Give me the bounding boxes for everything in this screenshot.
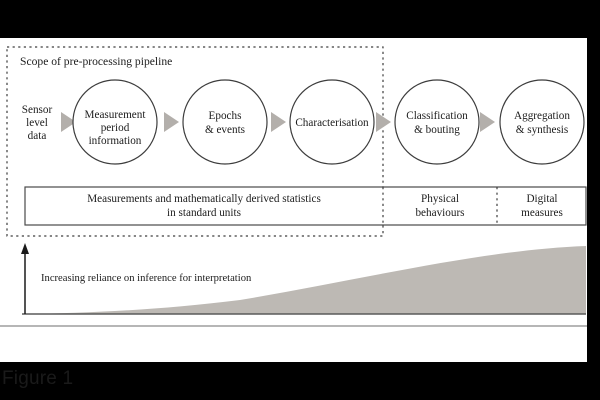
sensor-level-data-line-2: data — [28, 130, 47, 142]
band-label-line-1: measures — [521, 207, 563, 219]
stage-label-line-0: Classification — [406, 110, 468, 122]
stage-circle — [500, 80, 584, 164]
flow-arrow-icon-3 — [271, 112, 286, 132]
stage-label-line-1: & events — [205, 124, 245, 136]
figure-caption: Figure 1 — [2, 368, 73, 390]
scope-label: Scope of pre-processing pipeline — [20, 55, 172, 68]
stage-circle — [183, 80, 267, 164]
figure-page: Scope of pre-processing pipeline Sensor … — [0, 38, 587, 362]
stage-label-line-1: period — [101, 122, 130, 134]
inference-note: Increasing reliance on inference for int… — [41, 273, 252, 284]
band-label-line-0: Measurements and mathematically derived … — [87, 193, 321, 205]
band-label-line-1: in standard units — [167, 207, 241, 219]
stage-measurement-period-information[interactable]: Measurement period information — [73, 80, 157, 164]
stage-label-line-0: Epochs — [209, 110, 242, 122]
flow-arrow-icon-2 — [164, 112, 179, 132]
stage-epochs-and-events[interactable]: Epochs & events — [183, 80, 267, 164]
arrow-head-icon — [21, 243, 29, 254]
sensor-level-data: Sensor level data — [22, 104, 53, 142]
pipeline-diagram: Scope of pre-processing pipeline Sensor … — [0, 38, 587, 362]
sensor-level-data-line-1: level — [26, 117, 48, 129]
figure-root: Scope of pre-processing pipeline Sensor … — [0, 0, 600, 400]
stage-label-line-1: & synthesis — [516, 124, 569, 136]
band-label-line-1: behaviours — [415, 207, 464, 219]
band-label-line-0: Digital — [526, 193, 557, 205]
stage-label-line-0: Characterisation — [295, 117, 369, 129]
band-label-line-0: Physical — [421, 193, 459, 205]
stage-label-line-0: Measurement — [85, 109, 147, 121]
sensor-level-data-line-0: Sensor — [22, 104, 53, 116]
flow-arrow-icon-5 — [480, 112, 495, 132]
stage-circle — [395, 80, 479, 164]
stage-classification-and-bouting[interactable]: Classification & bouting — [395, 80, 479, 164]
stage-aggregation-and-synthesis[interactable]: Aggregation & synthesis — [500, 80, 584, 164]
stage-label-line-1: & bouting — [414, 124, 460, 136]
stage-label-line-0: Aggregation — [514, 110, 570, 122]
stage-label-line-2: information — [89, 135, 142, 147]
stage-characterisation[interactable]: Characterisation — [290, 80, 374, 164]
